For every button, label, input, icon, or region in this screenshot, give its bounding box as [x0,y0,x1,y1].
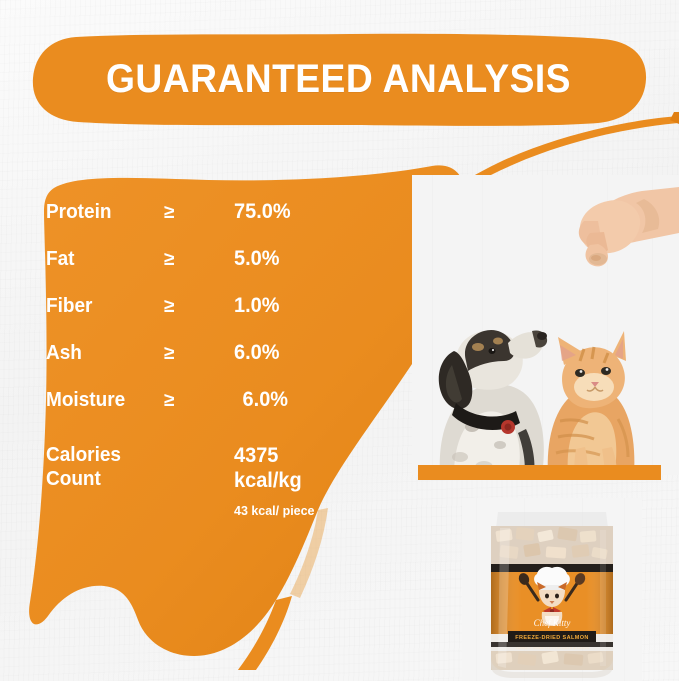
table-row-fat: Fat ≥ 5.0% [46,247,346,294]
nutrient-operator: ≥ [164,202,234,224]
product-jar-illustration: Chef Kitty FREEZE-DRIED SALMON TURKEY SW… [462,498,642,681]
product-variant-text: FREEZE-DRIED SALMON [515,635,589,641]
product-photo: Chef Kitty FREEZE-DRIED SALMON TURKEY SW… [462,498,642,681]
calories-label-line1: Calories [46,444,225,468]
nutrient-operator: ≥ [164,249,234,271]
calorie-count-block: Calories Count 4375 kcal/kg 43 kcal/ pie… [46,444,356,518]
accent-bar [418,465,661,480]
product-brand-text: Chef Kitty [534,618,571,628]
nutrient-value: 75.0% [234,200,340,224]
calories-value-line2: kcal/kg [234,469,302,494]
nutrient-value: 5.0% [234,247,340,271]
table-row-protein: Protein ≥ 75.0% [46,200,346,247]
dog-illustration [439,330,547,475]
nutrient-label: Protein [46,201,158,224]
nutrient-value: 6.0% [234,388,340,412]
guaranteed-analysis-table: Protein ≥ 75.0% Fat ≥ 5.0% Fiber ≥ 1.0% … [46,200,346,435]
pets-photo [412,175,679,475]
nutrient-operator: ≥ [164,343,234,365]
calories-value-line1: 4375 [234,444,302,469]
calories-per-piece: 43 kcal/ piece [234,503,351,518]
nutrient-label: Ash [46,342,158,365]
calories-label-line2: Count [46,468,225,492]
nutrient-label: Moisture [46,389,158,412]
nutrient-operator: ≥ [164,390,234,412]
pets-photo-illustration [412,175,679,475]
table-row-fiber: Fiber ≥ 1.0% [46,294,346,341]
product-infographic: GUARANTEED ANALYSIS Prot [0,0,679,681]
nutrient-operator: ≥ [164,296,234,318]
nutrient-label: Fat [46,248,158,271]
table-row-ash: Ash ≥ 6.0% [46,341,346,388]
nutrient-value: 1.0% [234,294,340,318]
table-row-moisture: Moisture ≥ 6.0% [46,388,346,435]
nutrient-label: Fiber [46,295,158,318]
nutrient-value: 6.0% [234,341,340,365]
